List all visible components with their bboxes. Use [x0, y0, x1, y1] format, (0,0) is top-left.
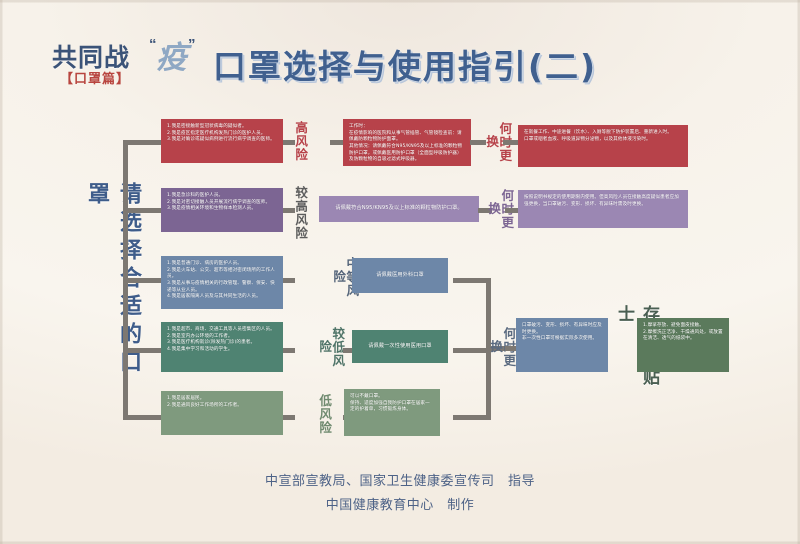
- mask-line: 其他情况：请佩戴符合N95/KN95及以上标准的颗粒物防护口罩，或佩戴医用防护口…: [349, 144, 465, 164]
- replace-line: 口罩或咽者血液、呼吸道异物分泌物，以及其他体液污染时。: [524, 137, 682, 144]
- mask-box-low: 可以不戴口罩。 保持、适度加强自我防护口罩在居家一定的护着单，习惯锻炼身体。: [344, 389, 440, 436]
- population-line: 1.我是急诊科的医护人员。: [167, 193, 277, 200]
- mask-box-lower: 请佩戴一次性使用医用口罩: [352, 330, 448, 363]
- population-line: 1.我是超市、商场、交通工具等人员密集区的人员。: [167, 327, 277, 334]
- replace-box-general: 口罩破污、变形、损坏、有异味时应及时更换。 非一次性口罩可根据实际多次使用。: [516, 318, 608, 372]
- mask-line: 请佩戴一次性使用医用口罩: [368, 343, 431, 351]
- population-box-medium: 1.我是普通门诊、病房的医护人员。 2.我是火车站、公交、超市等相对密闭场所的工…: [161, 256, 283, 309]
- population-line: 2.我是火车站、公交、超市等相对密闭场所的工作人员。: [167, 268, 277, 281]
- replace-line: 按照说明书规定的使用期限内使用。但高风险人员在接触高度疑似患者应加强更换，当口罩…: [524, 195, 682, 208]
- mask-box-higher: 请佩戴符合N95/KN95及以上标准的颗粒物防护口罩。: [319, 196, 479, 222]
- population-line: 1.我是密接触新型冠状病毒的疑似者。: [167, 124, 277, 131]
- population-box-high: 1.我是密接触新型冠状病毒的疑似者。 2.我是疫区指定医疗机构发热门诊的医护人员…: [161, 119, 283, 163]
- logo-quote-right: ”: [188, 36, 196, 53]
- connector-lower-to-risklabel: [283, 348, 295, 353]
- replace-line: 非一次性口罩可根据实际多次使用。: [522, 336, 602, 343]
- connector-replacehigh-to-box: [503, 140, 519, 145]
- mask-line: 保持、适度加强自我防护口罩在居家一定的护着单，习惯锻炼身体。: [350, 401, 434, 414]
- risk-label-low: 低风险: [318, 393, 331, 435]
- mask-line: 请佩戴符合N95/KN95及以上标准的颗粒物防护口罩。: [335, 205, 462, 213]
- storage-line: 2.摩擦洗正洁净、干燥通风处，或放置在清洁、透气的纸袋中。: [643, 330, 723, 343]
- left-branch-low: [123, 415, 161, 420]
- risk-label-higher: 较高风险: [294, 186, 307, 240]
- storage-line: 1.摩挲存放、避免面皮接触。: [643, 323, 723, 330]
- footer-credits: 中宣部宣教局、国家卫生健康委宣传司 指导 中国健康教育中心 制作: [0, 470, 800, 518]
- replace-line: 在就餐工作、中途进餐（饮水）、入厕等脱下防护装置后、重新进入时。: [524, 130, 682, 137]
- population-line: 1.我是居家居民。: [167, 396, 277, 403]
- connector-medium-to-risklabel: [283, 278, 295, 283]
- left-branch-higher: [123, 208, 161, 213]
- connector-risklabel-high-to-mask: [330, 140, 344, 145]
- choose-mask-vertical-label: 请选择合适的口罩: [80, 182, 144, 397]
- population-line: 3.我是从事与疫情相关的行政管理、警察、保安、快递等从业人员。: [167, 281, 277, 294]
- connector-replacehigher-to-box: [505, 208, 519, 213]
- page-title: 口罩选择与使用指引(二): [205, 42, 605, 92]
- population-line: 4.我是集中学习和活动的学生。: [167, 347, 277, 354]
- replace-box-higher: 按照说明书规定的使用期限内使用。但高风险人员在接触高度疑似患者应加强更换，当口罩…: [518, 190, 688, 228]
- footer-line-2: 中国健康教育中心 制作: [0, 494, 800, 518]
- population-line: 2.我是通风良好工作场所的工作者。: [167, 403, 277, 410]
- connector-low-to-risklabel: [283, 415, 295, 420]
- population-box-higher: 1.我是急诊科的医护人员。 2.我是对密切接触人员开展流行病学调查的医师。 3.…: [161, 188, 283, 232]
- mask-box-high: 工作时： 在疫情影响的医院和从事气管插管、气管镜检查前：请佩戴防颗粒物防护面罩。…: [343, 119, 471, 166]
- population-box-low: 1.我是居家居民。 2.我是通风良好工作场所的工作者。: [161, 391, 283, 435]
- population-line: 4.我是居家隔离人员及与其共同生活的人员。: [167, 294, 277, 301]
- mask-line: 请佩戴医用外科口罩: [376, 272, 424, 280]
- storage-tips-box: 1.摩挲存放、避免面皮接触。 2.摩擦洗正洁净、干燥通风处，或放置在清洁、透气的…: [637, 318, 729, 372]
- population-line: 3.我是对确诊或疑似病例进行流行病学调查的医师。: [167, 137, 277, 144]
- population-box-lower: 1.我是超市、商场、交通工具等人员密集区的人员。 2.我是室内办公环境的工作者。…: [161, 322, 283, 372]
- mask-line: 可以不戴口罩。: [350, 394, 434, 401]
- replace-box-high: 在就餐工作、中途进餐（饮水）、入厕等脱下防护装置后、重新进入时。 口罩或咽者血液…: [518, 125, 688, 167]
- replace-line: 口罩破污、变形、损坏、有异味时应及时更换。: [522, 323, 602, 336]
- footer-line-1: 中宣部宣教局、国家卫生健康委宣传司 指导: [0, 470, 800, 494]
- brand-logo: 共同战 “ 疫 ” 【口罩篇】: [52, 36, 202, 96]
- mask-line: 在疫情影响的医院和从事气管插管、气管镜检查前：请佩戴防颗粒物防护面罩。: [349, 131, 465, 144]
- left-branch-lower: [123, 348, 161, 353]
- poster-canvas: 共同战 “ 疫 ” 【口罩篇】 口罩选择与使用指引(二) 请选择合适的口罩 存放…: [0, 0, 800, 544]
- left-branch-high: [123, 140, 161, 145]
- logo-subtitle: 【口罩篇】: [60, 68, 130, 87]
- mask-line: 工作时：: [349, 124, 465, 131]
- left-branch-medium: [123, 278, 161, 283]
- population-line: 3.我是医疗机构就诊(除发热门诊)的患者。: [167, 340, 277, 347]
- risk-label-lower: 较低风险: [318, 322, 344, 372]
- population-line: 1.我是普通门诊、病房的医护人员。: [167, 261, 277, 268]
- population-line: 3.我是疫情相关环境和生物样本检测人员。: [167, 206, 277, 213]
- mask-box-medium: 请佩戴医用外科口罩: [352, 258, 448, 293]
- risk-label-high: 高风险: [294, 119, 307, 163]
- logo-yi-character: 疫: [156, 32, 187, 77]
